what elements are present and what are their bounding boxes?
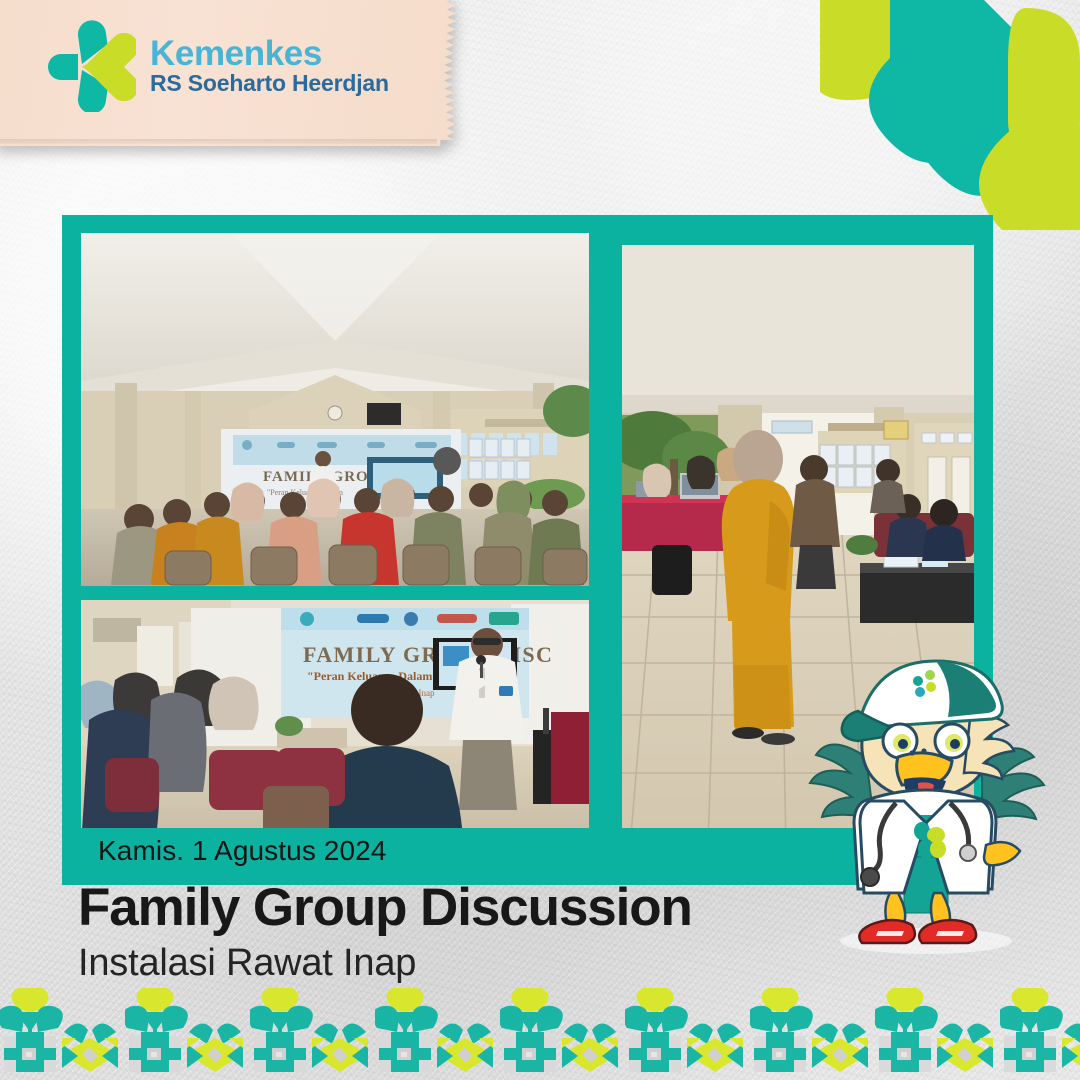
petal-cluster-icon bbox=[820, 0, 1080, 230]
brand-unit: RS Soeharto Heerdjan bbox=[150, 72, 389, 96]
event-date: Kamis. 1 Agustus 2024 bbox=[98, 835, 387, 867]
photo-speaker-presenting: FAMILY GROUP DISC "Peran Keluarga Dalam … bbox=[81, 600, 589, 847]
brand-lockup: Kemenkes RS Soeharto Heerdjan bbox=[48, 20, 389, 112]
batik-pattern-border bbox=[0, 988, 1080, 1080]
page-subtitle: Instalasi Rawat Inap bbox=[78, 942, 692, 985]
garuda-doctor-mascot-icon bbox=[800, 645, 1050, 955]
banner-crease bbox=[0, 139, 437, 144]
page-title: Family Group Discussion bbox=[78, 880, 692, 936]
headline-block: Family Group Discussion Instalasi Rawat … bbox=[78, 880, 692, 985]
photo-pavilion-audience: FAMILY GRO "Peran Keluarga Dalam bbox=[81, 233, 589, 586]
brand-text: Kemenkes RS Soeharto Heerdjan bbox=[150, 36, 389, 96]
poster-canvas: Kemenkes RS Soeharto Heerdjan bbox=[0, 0, 1080, 1080]
petal-cluster-decoration bbox=[820, 0, 1080, 230]
batik-pattern-icon bbox=[0, 988, 1080, 1080]
header-banner: Kemenkes RS Soeharto Heerdjan bbox=[0, 0, 470, 146]
kemenkes-pinwheel-logo-icon bbox=[48, 20, 136, 112]
brand-name: Kemenkes bbox=[150, 36, 389, 72]
